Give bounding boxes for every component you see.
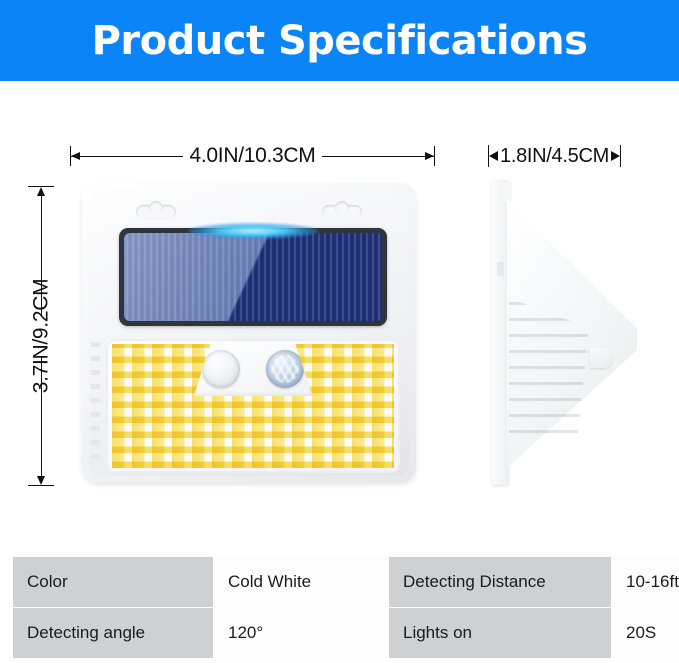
spec-value-detecting-distance: 10-16ft	[612, 557, 679, 608]
table-row: Color Cold White Detecting Distance 10-1…	[13, 557, 679, 608]
depth-dimension-label: 1.8IN/4.5CM	[498, 145, 611, 168]
mounting-slot-right-icon	[322, 205, 362, 219]
spec-label-detecting-distance: Detecting Distance	[389, 557, 612, 608]
solar-panel-sheen	[124, 233, 382, 321]
height-tick-bottom	[28, 485, 54, 486]
height-dimension-label: 3.7IN/9.2CM	[21, 279, 61, 394]
product-front-view	[82, 183, 416, 483]
solar-cell-stripes	[124, 233, 382, 321]
product-side-view	[492, 180, 652, 485]
depth-tick-right	[620, 145, 621, 167]
led-panel	[112, 344, 394, 468]
mounting-back-plate	[492, 180, 509, 485]
solar-panel	[119, 228, 387, 326]
dimension-line-right	[322, 156, 434, 157]
pir-motion-sensor-dome-icon	[266, 350, 304, 388]
depth-dimension-side: 1.8IN/4.5CM	[488, 139, 655, 173]
arrow-left-icon	[71, 152, 80, 160]
arrow-right-icon	[425, 152, 434, 160]
specification-table: Color Cold White Detecting Distance 10-1…	[12, 556, 679, 659]
led-array-housing	[106, 339, 400, 473]
spec-value-color: Cold White	[214, 557, 389, 608]
housing-side-vents	[91, 339, 100, 459]
sensor-notch	[194, 344, 312, 396]
table-row: Detecting angle 120° Lights on 20S	[13, 608, 679, 659]
arrow-up-icon	[37, 187, 45, 196]
width-dimension-label: 4.0IN/10.3CM	[183, 144, 323, 168]
front-housing-inner	[89, 189, 409, 476]
back-plate-top-tab	[503, 182, 512, 202]
spec-value-lights-on: 20S	[612, 608, 679, 659]
light-sensor-dome-icon	[202, 350, 240, 388]
spec-label-color: Color	[13, 557, 214, 608]
spec-label-detecting-angle: Detecting angle	[13, 608, 214, 659]
dimension-line-left	[71, 156, 183, 157]
spec-value-detecting-angle: 120°	[214, 608, 389, 659]
width-dimension-front: 4.0IN/10.3CM	[70, 139, 435, 173]
back-plate-notch	[497, 262, 504, 276]
dimension-tick-right	[434, 146, 435, 166]
arrow-inward-right-icon	[611, 151, 620, 161]
mounting-bracket	[590, 348, 612, 368]
mounting-slot-left-icon	[136, 205, 176, 219]
led-indicator-glow-icon	[188, 223, 318, 239]
header-banner: Product Specifications	[0, 0, 679, 81]
arrow-down-icon	[37, 476, 45, 485]
spec-label-lights-on: Lights on	[389, 608, 612, 659]
arrow-inward-left-icon	[489, 151, 498, 161]
page-title: Product Specifications	[92, 18, 588, 64]
height-dimension-front: 3.7IN/9.2CM	[27, 186, 55, 486]
